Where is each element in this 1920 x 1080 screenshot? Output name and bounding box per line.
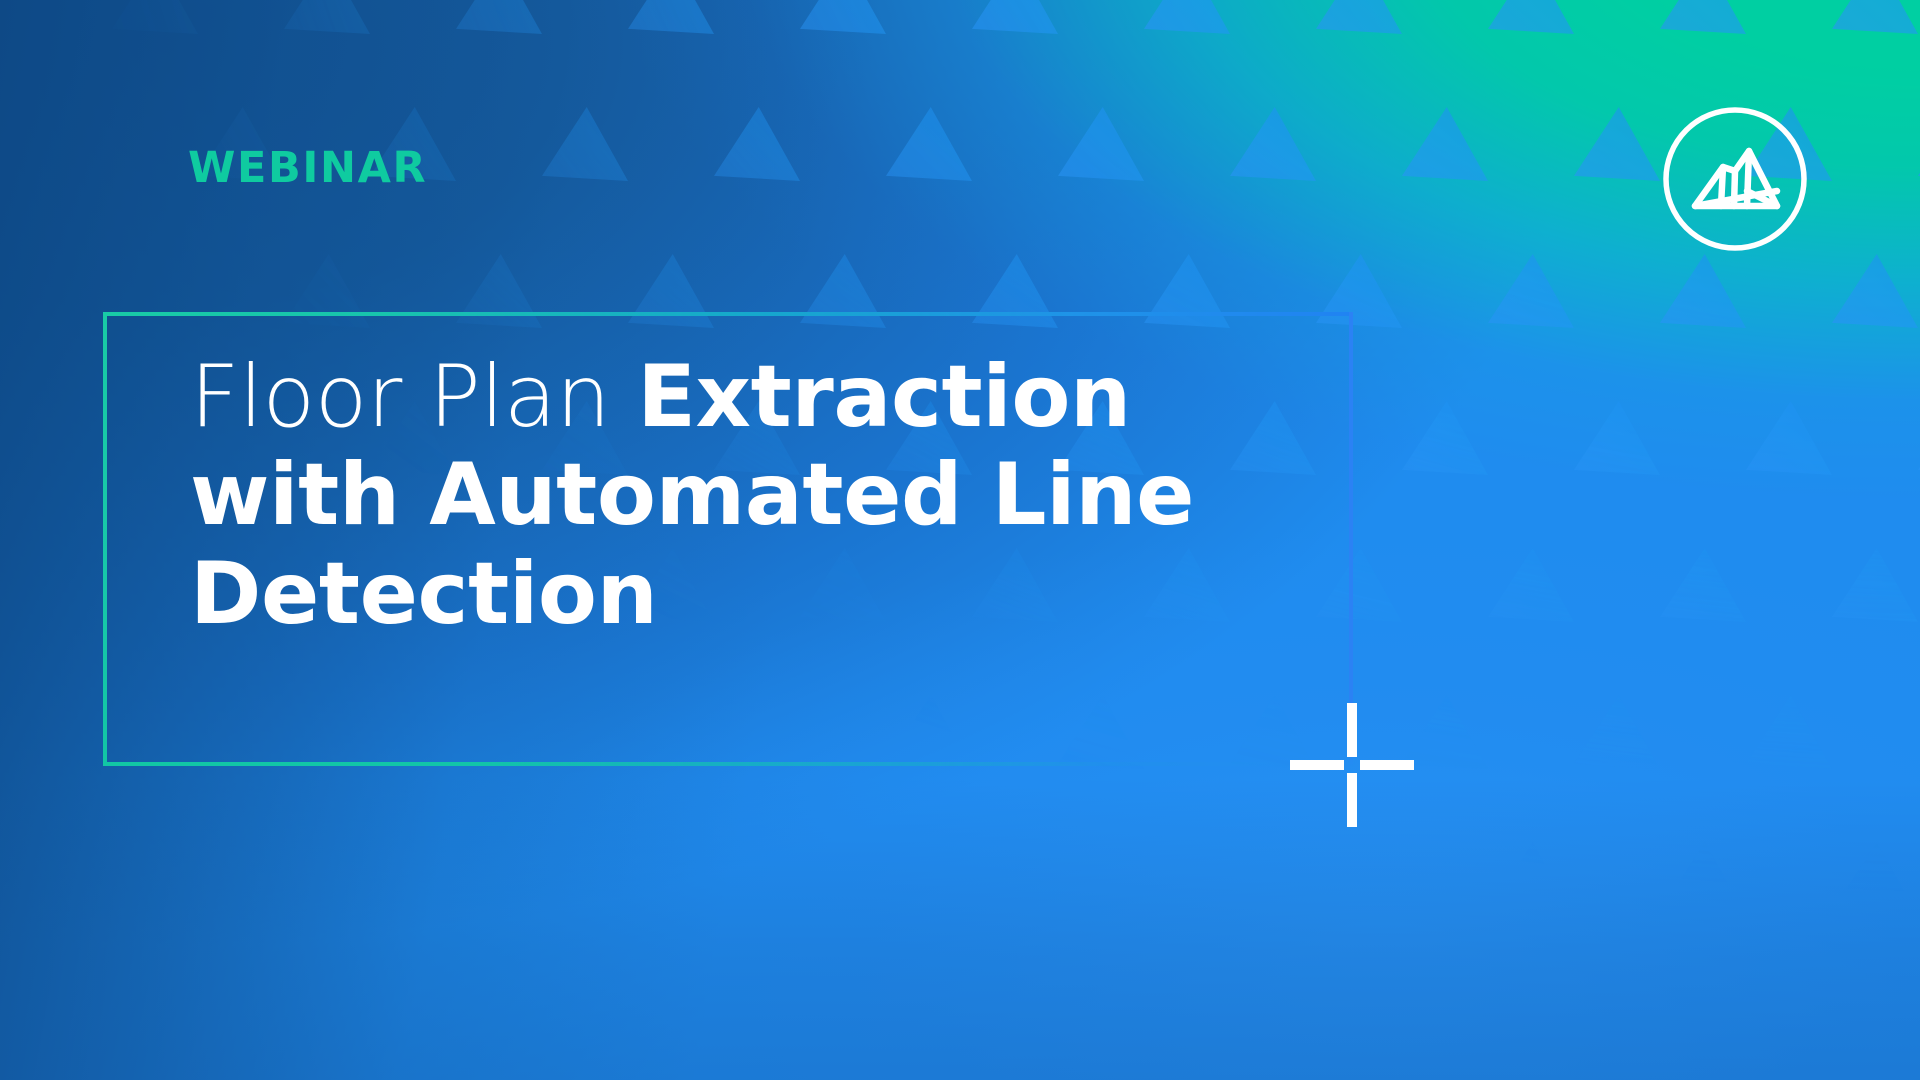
frame-edge-bottom: [103, 762, 1353, 766]
title-line-2: with Automated Line: [190, 446, 1310, 544]
crosshair-arm-right: [1360, 760, 1414, 770]
crosshair-arm-up: [1347, 703, 1357, 757]
frame-edge-left: [103, 312, 107, 766]
title-line-1-light: Floor Plan: [190, 347, 637, 447]
title-line-1-bold: Extraction: [637, 347, 1131, 447]
title-line-3: Detection: [190, 545, 1310, 643]
frame-edge-top: [103, 312, 1353, 316]
crosshair-arm-down: [1347, 773, 1357, 827]
crosshair-arm-left: [1290, 760, 1344, 770]
title-line-1: Floor Plan Extraction: [190, 348, 1310, 446]
page-title: Floor Plan Extraction with Automated Lin…: [190, 348, 1310, 643]
mountain-circle-logo: [1661, 105, 1809, 253]
webinar-title-card: WEBINAR Floor Plan Extraction with Autom…: [0, 0, 1920, 1080]
frame-edge-right: [1349, 312, 1353, 766]
eyebrow-label: WEBINAR: [188, 146, 427, 191]
